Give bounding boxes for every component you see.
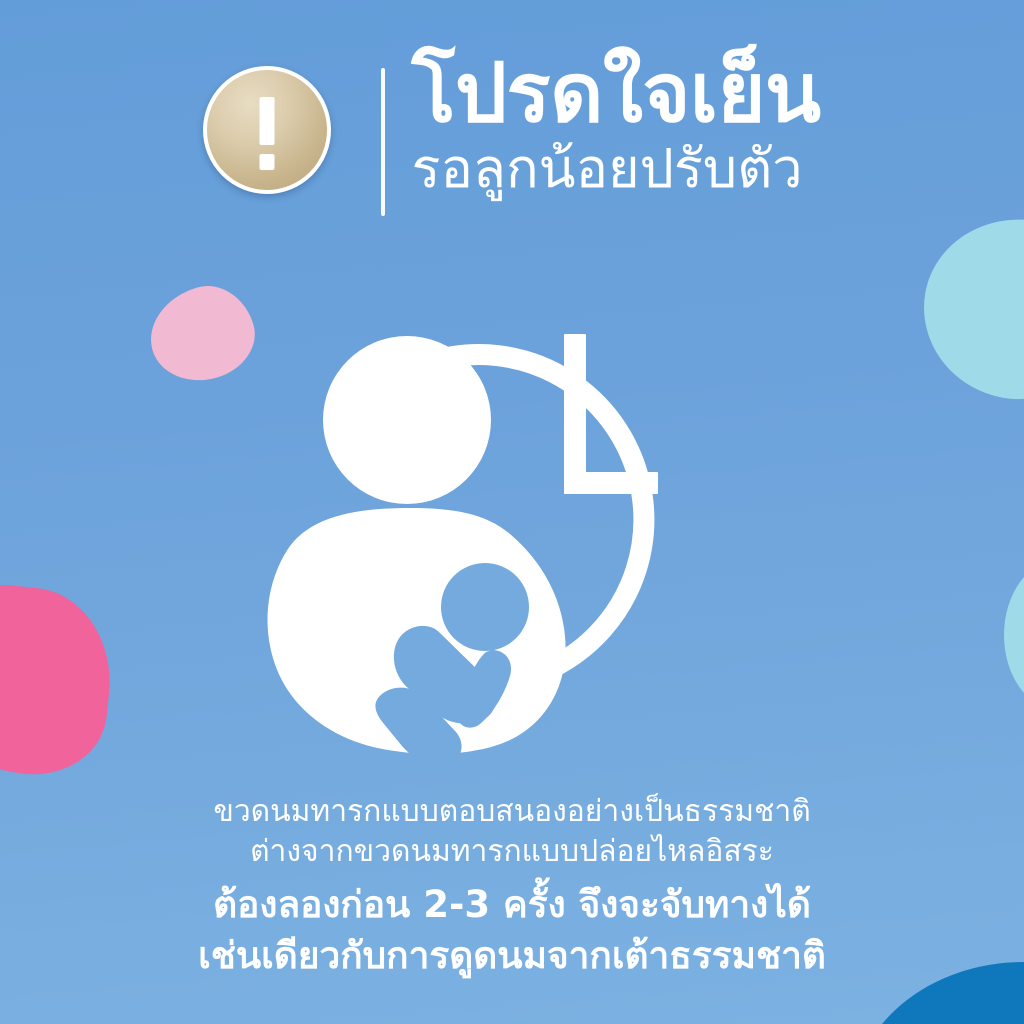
decor-blob-teal — [910, 204, 1024, 412]
baby-head — [441, 563, 529, 651]
warning-badge — [203, 66, 331, 194]
decor-blob-teal-secondary — [1004, 560, 1024, 710]
warning-badge-circle — [203, 66, 331, 194]
body-copy: ขวดนมทารกแบบตอบสนองอย่างเป็นธรรมชาติ ต่า… — [0, 792, 1024, 981]
exclamation-dot — [260, 154, 275, 170]
copy-line-3: ต้องลองก่อน 2-3 ครั้ง จึงจะจับทางได้ — [0, 879, 1024, 930]
page-subtitle: รอลูกน้อยปรับตัว — [411, 136, 802, 202]
title-block: โปรดใจเย็น รอลูกน้อยปรับตัว — [411, 52, 820, 202]
page-title: โปรดใจเย็น — [411, 54, 820, 134]
exclamation-mark-icon — [207, 70, 327, 190]
copy-line-1: ขวดนมทารกแบบตอบสนองอย่างเป็นธรรมชาติ — [0, 792, 1024, 832]
header-divider — [381, 68, 385, 216]
header: โปรดใจเย็น รอลูกน้อยปรับตัว — [0, 52, 1024, 216]
decor-blob-pink-hot — [0, 576, 119, 781]
poster-canvas: โปรดใจเย็น รอลูกน้อยปรับตัว — [0, 0, 1024, 1024]
copy-line-4: เช่นเดียวกับการดูดนมจากเต้าธรรมชาติ — [0, 930, 1024, 981]
exclamation-stem — [260, 97, 275, 145]
copy-line-2: ต่างจากขวดนมทารกแบบปล่อยไหลอิสระ — [0, 832, 1024, 872]
breastfeeding-mother-with-clock-icon — [242, 252, 782, 782]
mother-head — [323, 336, 491, 504]
